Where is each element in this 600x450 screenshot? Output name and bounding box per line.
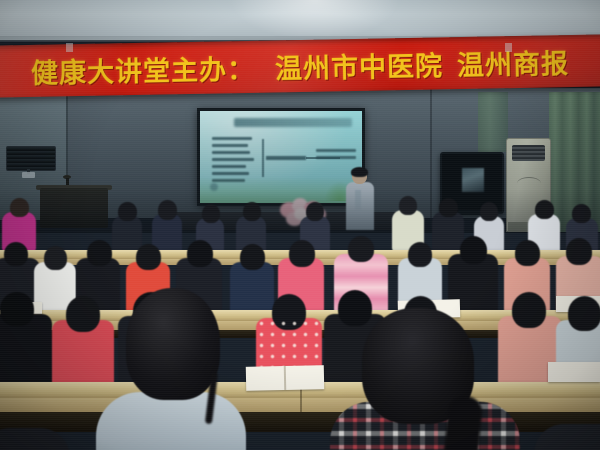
papers-stack [548, 362, 600, 382]
attendee-head [66, 296, 100, 332]
attendee-head [44, 246, 67, 270]
attendee-head [408, 242, 432, 267]
attendee-head [348, 236, 374, 262]
ceiling [0, 0, 600, 40]
attendee-head [439, 198, 458, 217]
banner-clip-left-icon [66, 43, 73, 52]
attendee-head [136, 244, 161, 270]
slide-corner-mark [210, 183, 218, 191]
ac-logo-icon [517, 177, 541, 190]
attendee-head [566, 238, 592, 265]
speaker-label-tag [22, 172, 35, 178]
audience-area [0, 196, 600, 450]
slide-bullet [212, 144, 248, 147]
attendee-torso-foreground [96, 392, 246, 450]
slide-bullet [212, 151, 250, 154]
slide-bullet [212, 158, 254, 161]
slide-bullet [212, 165, 246, 168]
attendee-torso [0, 314, 52, 388]
attendee-torso [432, 212, 464, 252]
slide-note-line [316, 156, 356, 159]
tv-screen-image [462, 168, 484, 192]
attendee-head [289, 240, 315, 267]
attendee-head [0, 292, 34, 326]
attendee-head [4, 242, 28, 266]
attendee-head [240, 244, 265, 270]
slide-right-note [316, 149, 360, 163]
attendee-head [118, 202, 137, 221]
slide-middle-label [266, 156, 306, 160]
attendee-head [87, 240, 112, 266]
attendee-head [306, 202, 324, 221]
attendee-head [460, 236, 487, 264]
photo-auditorium-scene: 健康大讲堂主办： 温州市中医院 温州商报 [0, 0, 600, 450]
attendee-head [399, 196, 417, 215]
banner-segment-hospital: 温州市中医院 [275, 44, 444, 86]
projection-screen [200, 111, 362, 203]
attendee-head [187, 240, 213, 267]
attendee-head [202, 204, 220, 223]
attendee-head [535, 200, 554, 219]
slide-note-line [316, 149, 356, 152]
ac-vent-grill [512, 145, 545, 161]
banner-clip-right-icon [505, 43, 512, 52]
curtain-secondary [478, 92, 508, 152]
banner-segment-organizer: 健康大讲堂主办： [31, 47, 256, 90]
attendee-head [10, 198, 29, 217]
presenter-hair [351, 167, 368, 177]
slide-bullet [212, 137, 252, 140]
attendee-head [243, 202, 261, 221]
attendee-head [480, 202, 498, 221]
attendee-head-foreground [126, 288, 220, 400]
ceiling-light-glow [230, 0, 400, 40]
projection-screen-frame [197, 108, 365, 206]
slide-bullet [212, 172, 249, 175]
slide-brace [262, 139, 264, 177]
banner-segment-newspaper: 温州商报 [457, 42, 570, 83]
attendee-head [568, 296, 600, 331]
attendee-head [512, 292, 546, 328]
attendee-head [338, 290, 372, 326]
attendee-head [158, 200, 177, 220]
attendee-head [572, 204, 591, 223]
slide-title-block [234, 118, 352, 127]
attendee-head [515, 240, 540, 266]
wall-speaker-icon [6, 146, 56, 171]
